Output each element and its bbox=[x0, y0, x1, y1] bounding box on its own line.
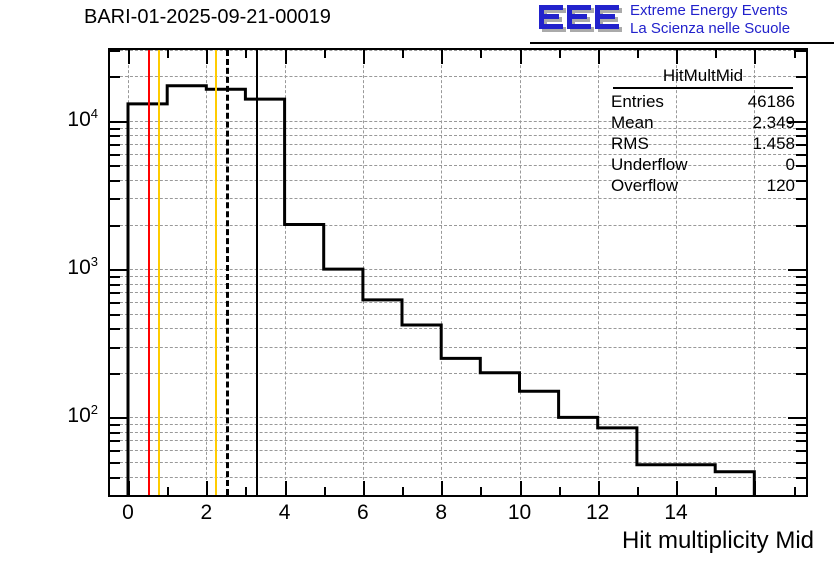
stats-row-value: 0 bbox=[786, 154, 795, 175]
x-tick bbox=[520, 481, 522, 495]
y-tick bbox=[110, 276, 120, 278]
x-tick bbox=[324, 487, 326, 495]
y-tick-right bbox=[796, 302, 806, 304]
y-tick bbox=[110, 328, 120, 330]
y-axis-label: 103 bbox=[24, 254, 98, 280]
y-tick-right bbox=[796, 50, 806, 52]
y-tick-right bbox=[796, 198, 806, 200]
x-tick-top bbox=[128, 50, 130, 64]
x-tick-top bbox=[754, 50, 756, 64]
header-divider bbox=[530, 42, 834, 44]
x-tick-top bbox=[285, 50, 287, 64]
x-axis-label: 14 bbox=[651, 501, 701, 525]
stats-row-key: Entries bbox=[611, 91, 664, 112]
x-tick bbox=[598, 481, 600, 495]
y-tick bbox=[110, 135, 120, 137]
x-tick bbox=[167, 487, 169, 495]
x-tick-top bbox=[441, 50, 443, 64]
x-tick bbox=[754, 481, 756, 495]
x-tick-top bbox=[794, 50, 796, 58]
x-tick-top bbox=[559, 50, 561, 58]
y-tick bbox=[110, 314, 120, 316]
x-tick bbox=[480, 487, 482, 495]
x-tick-top bbox=[402, 50, 404, 58]
stats-row: Overflow120 bbox=[607, 175, 799, 196]
page-title: BARI-01-2025-09-21-00019 bbox=[84, 6, 331, 29]
eee-logo-text: Extreme Energy Events La Scienza nelle S… bbox=[630, 2, 790, 38]
x-tick bbox=[637, 487, 639, 495]
eee-logo-line2: La Scienza nelle Scuole bbox=[630, 20, 790, 38]
stats-row: Underflow0 bbox=[607, 154, 799, 175]
y-tick-right bbox=[796, 440, 806, 442]
y-axis-label: 104 bbox=[24, 106, 98, 132]
y-tick-right bbox=[796, 373, 806, 375]
stats-row-value: 1.458 bbox=[752, 133, 795, 154]
y-tick bbox=[110, 373, 120, 375]
stats-box: HitMultMid Entries46186Mean2.349RMS1.458… bbox=[607, 66, 799, 196]
y-axis-label-base: 10 bbox=[67, 404, 90, 427]
y-tick-right bbox=[796, 292, 806, 294]
marker-line-red-low bbox=[148, 50, 150, 495]
y-tick bbox=[110, 450, 120, 452]
y-tick-right bbox=[796, 284, 806, 286]
x-tick bbox=[245, 487, 247, 495]
y-tick bbox=[110, 154, 120, 156]
y-tick-right bbox=[796, 462, 806, 464]
y-tick-right bbox=[796, 347, 806, 349]
stats-divider bbox=[613, 87, 793, 89]
x-axis-label: 6 bbox=[338, 501, 388, 525]
y-tick bbox=[110, 440, 120, 442]
y-tick bbox=[110, 225, 120, 227]
y-tick bbox=[110, 284, 120, 286]
stats-row-value: 46186 bbox=[748, 91, 795, 112]
y-tick bbox=[110, 292, 120, 294]
y-tick bbox=[110, 269, 128, 271]
y-axis-label-base: 10 bbox=[67, 256, 90, 279]
x-tick bbox=[206, 481, 208, 495]
marker-line-red-high bbox=[256, 50, 258, 495]
x-tick-top bbox=[206, 50, 208, 64]
x-axis-label: 12 bbox=[573, 501, 623, 525]
y-tick bbox=[110, 76, 120, 78]
y-tick-right bbox=[796, 314, 806, 316]
x-tick bbox=[285, 481, 287, 495]
y-tick-right bbox=[796, 424, 806, 426]
x-tick bbox=[441, 481, 443, 495]
x-tick bbox=[715, 487, 717, 495]
y-tick bbox=[110, 432, 120, 434]
y-axis-label-base: 10 bbox=[67, 108, 90, 131]
root-canvas: BARI-01-2025-09-21-00019 Extreme Energy … bbox=[0, 0, 836, 572]
x-axis-label: 4 bbox=[260, 501, 310, 525]
x-tick-top bbox=[480, 50, 482, 58]
x-axis-label: 0 bbox=[103, 501, 153, 525]
y-tick-right bbox=[796, 276, 806, 278]
eee-mark-icon bbox=[538, 2, 624, 38]
x-tick bbox=[794, 487, 796, 495]
x-tick bbox=[363, 481, 365, 495]
x-axis-title: Hit multiplicity Mid bbox=[622, 527, 814, 555]
x-tick bbox=[559, 487, 561, 495]
x-tick-top bbox=[167, 50, 169, 58]
stats-row-key: Mean bbox=[611, 112, 654, 133]
eee-logo-line1: Extreme Energy Events bbox=[630, 2, 790, 20]
stats-row-key: Underflow bbox=[611, 154, 688, 175]
x-tick-top bbox=[324, 50, 326, 58]
x-axis-label: 8 bbox=[416, 501, 466, 525]
marker-line-orange-low bbox=[158, 50, 160, 495]
stats-rows: Entries46186Mean2.349RMS1.458Underflow0O… bbox=[607, 91, 799, 196]
x-tick-top bbox=[637, 50, 639, 58]
y-tick bbox=[110, 165, 120, 167]
y-tick bbox=[110, 424, 120, 426]
y-tick-right bbox=[796, 450, 806, 452]
x-tick-top bbox=[520, 50, 522, 64]
y-tick-right bbox=[796, 328, 806, 330]
y-tick bbox=[110, 128, 120, 130]
y-tick bbox=[110, 50, 120, 52]
y-tick-right bbox=[788, 417, 806, 419]
x-tick-top bbox=[715, 50, 717, 58]
y-tick-right bbox=[796, 225, 806, 227]
x-tick-top bbox=[676, 50, 678, 64]
stats-row-key: RMS bbox=[611, 133, 649, 154]
marker-line-orange-high bbox=[215, 50, 217, 495]
y-tick bbox=[110, 347, 120, 349]
stats-row: Mean2.349 bbox=[607, 112, 799, 133]
stats-row-key: Overflow bbox=[611, 175, 678, 196]
x-axis-label: 10 bbox=[495, 501, 545, 525]
y-tick bbox=[110, 121, 128, 123]
y-tick-right bbox=[788, 269, 806, 271]
y-tick-right bbox=[796, 432, 806, 434]
y-axis-label-exponent: 2 bbox=[91, 402, 98, 417]
x-tick-top bbox=[598, 50, 600, 64]
y-tick bbox=[110, 417, 128, 419]
stats-title: HitMultMid bbox=[607, 66, 799, 87]
y-tick bbox=[110, 144, 120, 146]
y-axis-label: 102 bbox=[24, 402, 98, 428]
x-tick-top bbox=[245, 50, 247, 58]
stats-row: Entries46186 bbox=[607, 91, 799, 112]
marker-line-mean-dashed bbox=[226, 50, 229, 495]
y-tick bbox=[110, 180, 120, 182]
y-tick bbox=[110, 477, 120, 479]
stats-row-value: 120 bbox=[767, 175, 795, 196]
y-tick bbox=[110, 302, 120, 304]
y-tick-right bbox=[796, 477, 806, 479]
eee-logo: Extreme Energy Events La Scienza nelle S… bbox=[538, 2, 834, 42]
x-axis-label: 2 bbox=[181, 501, 231, 525]
x-tick bbox=[402, 487, 404, 495]
y-axis-label-exponent: 3 bbox=[91, 254, 98, 269]
y-axis-label-exponent: 4 bbox=[91, 106, 98, 121]
stats-row-value: 2.349 bbox=[752, 112, 795, 133]
x-tick-top bbox=[363, 50, 365, 64]
y-tick bbox=[110, 198, 120, 200]
stats-row: RMS1.458 bbox=[607, 133, 799, 154]
x-tick bbox=[676, 481, 678, 495]
y-tick bbox=[110, 462, 120, 464]
x-tick bbox=[128, 481, 130, 495]
